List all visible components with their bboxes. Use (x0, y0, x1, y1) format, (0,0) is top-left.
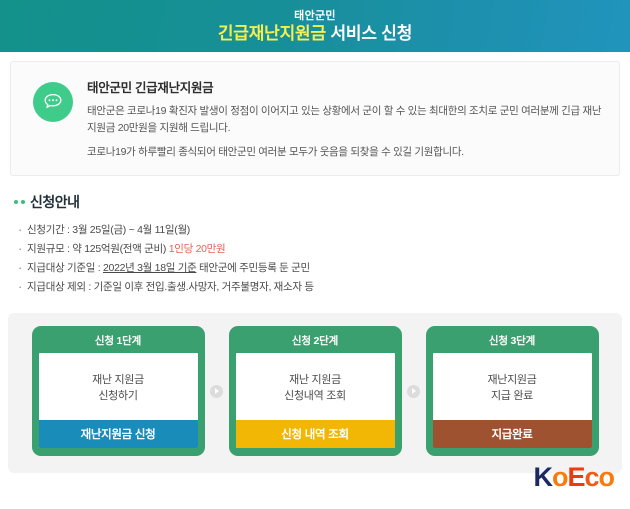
step-1-box: 재난 지원금 신청하기 재난지원금 신청 (39, 353, 198, 448)
banner-title-highlight: 긴급재난지원금 (218, 24, 326, 43)
view-application-history-button[interactable]: 신청 내역 조회 (236, 420, 395, 448)
step-1-description: 재난 지원금 신청하기 (39, 353, 198, 420)
arrow-right-icon (210, 385, 223, 398)
notice-card: 태안군민 긴급재난지원금 태안군은 코로나19 확진자 발생이 정점이 이어지고… (10, 61, 620, 176)
step-connector-1 (205, 326, 229, 456)
steps-row: 신청 1단계 재난 지원금 신청하기 재난지원금 신청 신청 2단계 재난 지원… (20, 326, 610, 456)
step-2-description: 재난 지원금 신청내역 조회 (236, 353, 395, 420)
guide-item-prefix: 지원규모 : 약 125억원(전액 군비) (27, 243, 169, 255)
notice-paragraph-1: 태안군은 코로나19 확진자 발생이 정점이 이어지고 있는 상황에서 군이 할… (87, 103, 605, 137)
step-2-heading: 신청 2단계 (236, 333, 395, 353)
banner-title: 긴급재난지원금 서비스 신청 (218, 23, 412, 45)
step-1-line-1: 재난 지원금 (92, 372, 144, 388)
bullet-dot-icon (21, 200, 25, 204)
step-2-line-1: 재난 지원금 (289, 372, 341, 388)
step-3-box: 재난지원금 지급 완료 지급완료 (433, 353, 592, 448)
step-2-box: 재난 지원금 신청내역 조회 신청 내역 조회 (236, 353, 395, 448)
list-item: 지급대상 제외 : 기준일 이후 전입.출생.사망자, 거주불명자, 재소자 등 (18, 278, 630, 297)
logo-letter-c: c (584, 462, 598, 492)
step-card-2[interactable]: 신청 2단계 재난 지원금 신청내역 조회 신청 내역 조회 (229, 326, 402, 456)
steps-panel: 신청 1단계 재난 지원금 신청하기 재난지원금 신청 신청 2단계 재난 지원… (8, 313, 622, 473)
notice-title: 태안군민 긴급재난지원금 (87, 77, 605, 96)
steps-section: 신청 1단계 재난 지원금 신청하기 재난지원금 신청 신청 2단계 재난 지원… (0, 297, 630, 473)
step-3-line-2: 지급 완료 (491, 388, 533, 404)
notice-paragraph-2: 코로나19가 하루빨리 종식되어 태안군민 여러분 모두가 웃음을 되찾을 수 … (87, 144, 605, 161)
step-2-line-2: 신청내역 조회 (284, 388, 346, 404)
banner-title-rest: 서비스 신청 (326, 24, 412, 43)
guide-title: 신청안내 (30, 192, 80, 212)
list-item: 신청기간 : 3월 25일(금) ~ 4월 11일(월) (18, 221, 630, 240)
notice-section: 태안군민 긴급재난지원금 태안군은 코로나19 확진자 발생이 정점이 이어지고… (0, 52, 630, 176)
guide-heading: 신청안내 (14, 192, 630, 212)
logo-letter-o1: o (552, 462, 568, 492)
step-3-description: 재난지원금 지급 완료 (433, 353, 592, 420)
logo-letter-o2: o (599, 462, 615, 492)
notice-body: 태안군민 긴급재난지원금 태안군은 코로나19 확진자 발생이 정점이 이어지고… (87, 76, 605, 161)
step-1-line-2: 신청하기 (98, 388, 137, 404)
logo-letter-e: E (567, 462, 584, 492)
list-item: 지원규모 : 약 125억원(전액 군비) 1인당 20만원 (18, 240, 630, 259)
step-connector-2 (402, 326, 426, 456)
step-1-heading: 신청 1단계 (39, 333, 198, 353)
guide-item-emphasis: 2022년 3월 18일 기준 (103, 262, 196, 274)
guide-item-emphasis: 1인당 20만원 (169, 243, 226, 255)
step-3-heading: 신청 3단계 (433, 333, 592, 353)
arrow-right-icon (407, 385, 420, 398)
koeco-logo: KoEco (533, 464, 614, 491)
logo-letter-k: K (533, 462, 552, 492)
page-banner: 태안군민 긴급재난지원금 서비스 신청 (0, 0, 630, 52)
speech-bubble-icon (33, 82, 73, 122)
banner-subtitle: 태안군민 (294, 9, 336, 23)
bullet-dot-icon (14, 200, 18, 204)
guide-item-prefix: 지급대상 기준일 : (27, 262, 103, 274)
guide-item-text: 지급대상 제외 : 기준일 이후 전입.출생.사망자, 거주불명자, 재소자 등 (27, 281, 314, 293)
step-card-3[interactable]: 신청 3단계 재난지원금 지급 완료 지급완료 (426, 326, 599, 456)
application-guide-section: 신청안내 신청기간 : 3월 25일(금) ~ 4월 11일(월) 지원규모 :… (0, 176, 630, 297)
list-item: 지급대상 기준일 : 2022년 3월 18일 기준 태안군에 주민등록 둔 군… (18, 259, 630, 278)
guide-item-text: 신청기간 : 3월 25일(금) ~ 4월 11일(월) (27, 224, 190, 236)
step-3-line-1: 재난지원금 (487, 372, 536, 388)
payment-complete-status: 지급완료 (433, 420, 592, 448)
guide-item-suffix: 태안군에 주민등록 둔 군민 (196, 262, 309, 274)
apply-disaster-fund-button[interactable]: 재난지원금 신청 (39, 420, 198, 448)
step-card-1[interactable]: 신청 1단계 재난 지원금 신청하기 재난지원금 신청 (32, 326, 205, 456)
guide-list: 신청기간 : 3월 25일(금) ~ 4월 11일(월) 지원규모 : 약 12… (14, 221, 630, 297)
